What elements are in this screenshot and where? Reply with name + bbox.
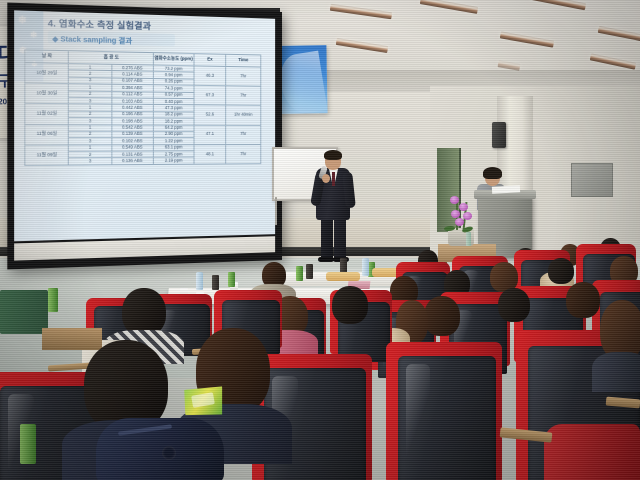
audience-head (332, 286, 368, 324)
water-bottle (466, 232, 471, 246)
projection-screen: ❄ ❄ ❄ ❄ 4. 염화수소 측정 실험결과 ◆ Stack sampling… (7, 3, 282, 270)
presenter-hair (324, 150, 342, 160)
cell-time: 7hr (226, 86, 261, 106)
audience-head (424, 296, 460, 336)
screen-surface: ❄ ❄ ❄ ❄ 4. 염화수소 측정 실험결과 ◆ Stack sampling… (14, 10, 275, 241)
snack-tray (326, 272, 360, 281)
moderator-hair (483, 167, 502, 179)
beverage-can (212, 275, 219, 290)
cell-ex: 46.3 (194, 66, 226, 86)
cell-date: 11월 02일 (25, 104, 69, 125)
th-concentration: 염화수소농도 (ppm) (153, 53, 194, 66)
orchid-bloom (451, 210, 460, 218)
presenter-shoe (318, 257, 334, 262)
slide-data-table: 날 짜 흡 광 도 염화수소농도 (ppm) Ex Time 10월 29일10… (24, 49, 261, 166)
th-time: Time (226, 54, 261, 67)
bullet-marker-icon: ◆ (52, 36, 58, 44)
cell-time: 1hr 40min (226, 105, 261, 125)
slide-content: ❄ ❄ ❄ ❄ 4. 염화수소 측정 실험결과 ◆ Stack sampling… (14, 10, 275, 241)
wall-panel (571, 163, 613, 197)
wall-speaker-icon (492, 122, 506, 148)
cell-date: 10월 30일 (25, 83, 69, 104)
presenter-leg (321, 218, 333, 260)
bench-shelf (42, 328, 102, 350)
backpack-buckle-icon (162, 446, 176, 460)
cell-index: 3 (69, 158, 112, 165)
presenter-tie (332, 172, 335, 186)
seat-highlight (406, 364, 430, 472)
cell-time: 7hr (226, 144, 261, 164)
orchid-bloom (459, 203, 468, 211)
audience-head (600, 300, 640, 360)
cell-time: 7hr (226, 125, 261, 144)
cell-date: 11월 09일 (25, 145, 69, 166)
th-ex: Ex (194, 54, 226, 67)
beverage-can (296, 266, 303, 281)
audience-head (548, 258, 574, 284)
whiteboard-leg (275, 197, 277, 225)
cell-concentration: 2.19 ppm (153, 157, 194, 164)
cell-ex: 52.6 (194, 105, 226, 125)
water-bottle (362, 258, 369, 276)
audience-head (566, 282, 600, 318)
orchid-bloom (450, 196, 459, 204)
beverage-can (20, 424, 36, 464)
th-date: 날 짜 (25, 50, 69, 64)
audience-head (498, 288, 530, 322)
beverage-can (306, 264, 313, 279)
cell-ex: 48.1 (194, 144, 226, 164)
slide-bullet: ◆ Stack sampling 결과 (52, 34, 132, 47)
presenter-leg (334, 218, 346, 260)
orchid-bloom (463, 212, 472, 220)
red-trouser (544, 424, 640, 480)
cell-time: 7hr (226, 66, 261, 86)
wall-side-panel (0, 290, 48, 334)
slide-bullet-text: Stack sampling 결과 (60, 36, 132, 45)
cell-absorbance: 0.136 ABS (111, 158, 153, 165)
table-body: 10월 29일10.276 ABS73.2 ppm46.37hr20.114 A… (25, 63, 261, 166)
beverage-can (48, 288, 58, 312)
snowflake-icon: ❄ (18, 16, 27, 27)
water-bottle (196, 272, 203, 290)
orchid-bloom (455, 218, 464, 226)
beverage-can (340, 258, 347, 273)
presenter-hand (322, 174, 330, 183)
lecture-hall-scene: 대 구 · 20(금) 발표회 표회 대구대학교 환경공학과 ❄ ❄ ❄ ❄ 4… (0, 0, 640, 480)
beverage-can (228, 272, 235, 287)
cell-date: 10월 29일 (25, 63, 69, 84)
cell-ex: 67.3 (194, 85, 226, 105)
audience-shoulders (592, 352, 640, 392)
cell-date: 11월 06일 (25, 124, 69, 145)
podium-papers (492, 185, 520, 193)
audience-head (122, 288, 166, 336)
cell-ex: 47.1 (194, 125, 226, 145)
snowflake-icon: ❄ (30, 30, 38, 41)
cell-index: 2 (69, 131, 112, 138)
